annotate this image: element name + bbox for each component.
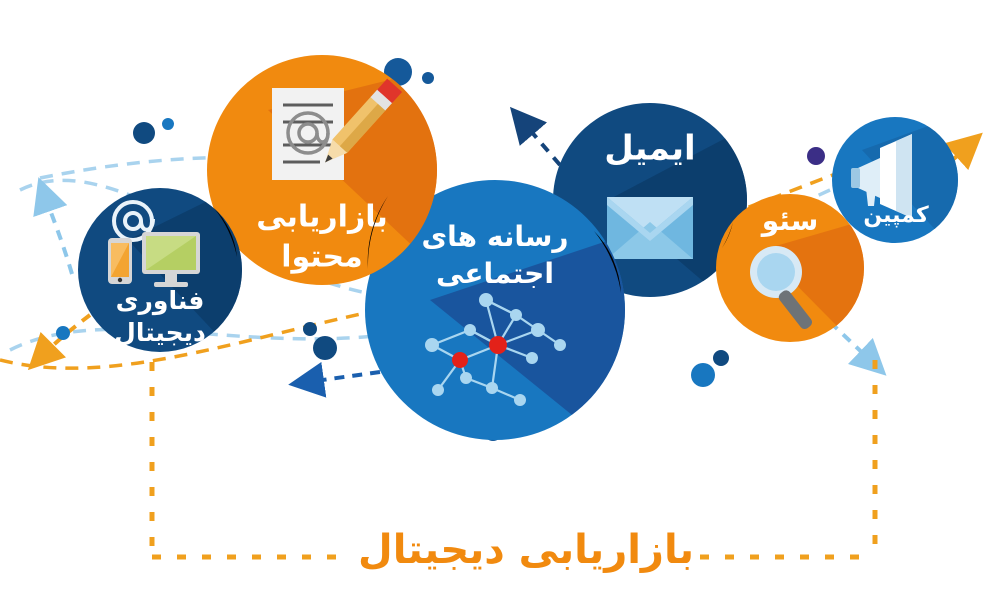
envelope-icon bbox=[607, 197, 693, 259]
arrow-mid-left bbox=[308, 372, 380, 382]
arrow-top-center bbox=[523, 122, 560, 165]
dot bbox=[162, 118, 174, 130]
digital-technology-label-line1: فناوری bbox=[116, 286, 205, 316]
dot bbox=[303, 322, 317, 336]
campaign-label: کمپین bbox=[863, 203, 929, 228]
infographic-canvas: کمپین ایمیل bbox=[0, 0, 1000, 615]
arrow-up-left bbox=[45, 196, 72, 274]
dot bbox=[422, 72, 434, 84]
social-media-label-line1: رسانه های bbox=[422, 220, 569, 253]
dot bbox=[56, 326, 70, 340]
dot bbox=[807, 147, 825, 165]
seo-label: سئو bbox=[760, 204, 819, 237]
dot bbox=[713, 350, 729, 366]
social-media-label-line2: اجتماعی bbox=[436, 257, 554, 290]
dot bbox=[313, 336, 337, 360]
digital-marketing-diagram: کمپین ایمیل bbox=[0, 0, 1000, 615]
footer-caption: بازاریابی دیجیتال bbox=[358, 527, 694, 573]
digital-technology-label-line2: دیجیتال bbox=[114, 318, 206, 347]
arrow-right-down bbox=[830, 322, 872, 362]
dot bbox=[691, 363, 715, 387]
content-marketing-label-line2: محتوا bbox=[281, 240, 363, 275]
content-marketing-label-line1: بازاریابی bbox=[256, 200, 388, 235]
dot bbox=[133, 122, 155, 144]
email-label: ایمیل bbox=[604, 129, 695, 169]
